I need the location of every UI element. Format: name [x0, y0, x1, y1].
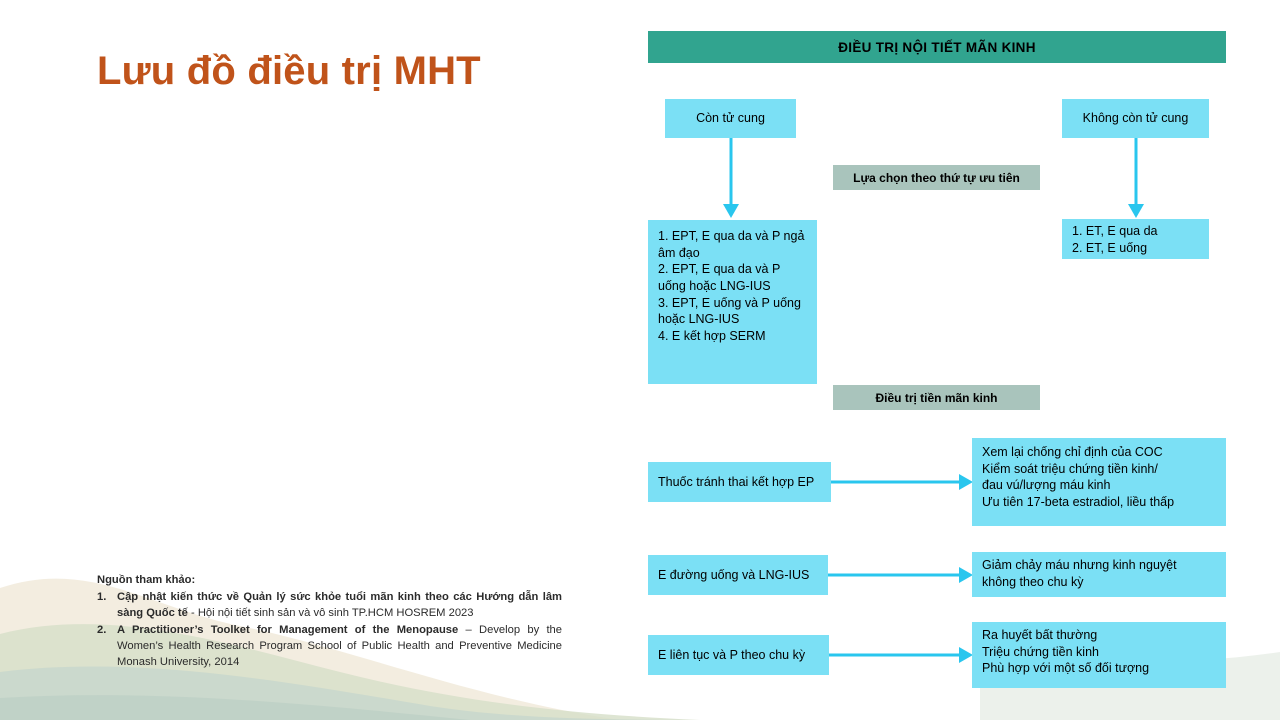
reference-item-1-number: 1. [97, 590, 106, 606]
box-note-1-line-3: đau vú/lượng máu kinh [982, 477, 1216, 494]
arrow-right-1 [831, 472, 975, 492]
left-option-1: 1. EPT, E qua da và P ngả âm đạo [658, 228, 807, 261]
right-option-1: 1. ET, E qua da [1072, 223, 1199, 240]
slide-canvas: Lưu đồ điều trị MHT ĐIỀU TRỊ NỘI TIẾT MÃ… [0, 0, 1280, 720]
label-lua-chon-uu-tien: Lựa chọn theo thứ tự ưu tiên [833, 165, 1040, 190]
right-option-2: 2. ET, E uống [1072, 240, 1199, 257]
reference-item-1-detail: - Hội nội tiết sinh sản và vô sinh TP.HC… [188, 607, 474, 619]
box-note-2: Giảm chảy máu nhưng kinh nguyệt không th… [972, 552, 1226, 597]
flowchart-banner: ĐIỀU TRỊ NỘI TIẾT MÃN KINH [648, 31, 1226, 63]
label-dieu-tri-tien-man-kinh: Điều trị tiền mãn kinh [833, 385, 1040, 410]
arrow-down-right [1126, 138, 1146, 220]
label-dieu-tri-tien-man-kinh-text: Điều trị tiền mãn kinh [875, 391, 997, 405]
label-lua-chon-uu-tien-text: Lựa chọn theo thứ tự ưu tiên [853, 171, 1020, 185]
box-con-tu-cung-label: Còn tử cung [696, 110, 765, 127]
box-treatment-3: E liên tục và P theo chu kỳ [648, 635, 829, 675]
left-option-3: 3. EPT, E uống và P uống hoặc LNG-IUS [658, 295, 807, 328]
box-note-3-line-2: Triệu chứng tiền kinh [982, 644, 1216, 661]
page-title: Lưu đồ điều trị MHT [97, 49, 481, 94]
box-right-options: 1. ET, E qua da 2. ET, E uống [1062, 219, 1209, 259]
box-treatment-1-label: Thuốc tránh thai kết hợp EP [658, 474, 814, 491]
box-note-1: Xem lại chống chỉ định của COC Kiểm soát… [972, 438, 1226, 526]
left-option-4: 4. E kết hợp SERM [658, 328, 807, 345]
box-note-1-line-2: Kiểm soát triệu chứng tiền kinh/ [982, 461, 1216, 478]
box-note-3: Ra huyết bất thường Triệu chứng tiền kin… [972, 622, 1226, 688]
box-note-1-line-4: Ưu tiên 17-beta estradiol, liều thấp [982, 494, 1216, 511]
box-note-3-line-3: Phù hợp với một số đối tượng [982, 660, 1216, 677]
box-note-1-line-1: Xem lại chống chỉ định của COC [982, 444, 1216, 461]
arrow-right-2 [828, 565, 975, 585]
left-option-2: 2. EPT, E qua da và P uống hoặc LNG-IUS [658, 261, 807, 294]
arrow-down-left [721, 138, 741, 220]
reference-item-2-title: A Practitioner’s Toolket for Management … [117, 624, 458, 636]
box-treatment-1: Thuốc tránh thai kết hợp EP [648, 462, 831, 502]
box-note-2-line-2: không theo chu kỳ [982, 574, 1216, 591]
box-treatment-3-label: E liên tục và P theo chu kỳ [658, 647, 805, 664]
box-left-options: 1. EPT, E qua da và P ngả âm đạo 2. EPT,… [648, 220, 817, 384]
box-khong-con-tu-cung: Không còn tử cung [1062, 99, 1209, 138]
references-heading: Nguồn tham khảo: [97, 573, 562, 589]
arrow-right-3 [829, 645, 975, 665]
references-block: Nguồn tham khảo: 1.Cập nhật kiến thức về… [97, 573, 562, 671]
box-con-tu-cung: Còn tử cung [665, 99, 796, 138]
references-list: 1.Cập nhật kiến thức về Quản lý sức khỏe… [97, 590, 562, 671]
reference-item-1: 1.Cập nhật kiến thức về Quản lý sức khỏe… [97, 590, 562, 622]
reference-item-2: 2.A Practitioner’s Toolket for Managemen… [97, 623, 562, 671]
reference-item-2-number: 2. [97, 623, 106, 639]
box-note-2-line-1: Giảm chảy máu nhưng kinh nguyệt [982, 557, 1216, 574]
box-treatment-2-label: E đường uống và LNG-IUS [658, 567, 809, 584]
box-treatment-2: E đường uống và LNG-IUS [648, 555, 828, 595]
box-khong-con-tu-cung-label: Không còn tử cung [1083, 110, 1189, 127]
box-note-3-line-1: Ra huyết bất thường [982, 627, 1216, 644]
